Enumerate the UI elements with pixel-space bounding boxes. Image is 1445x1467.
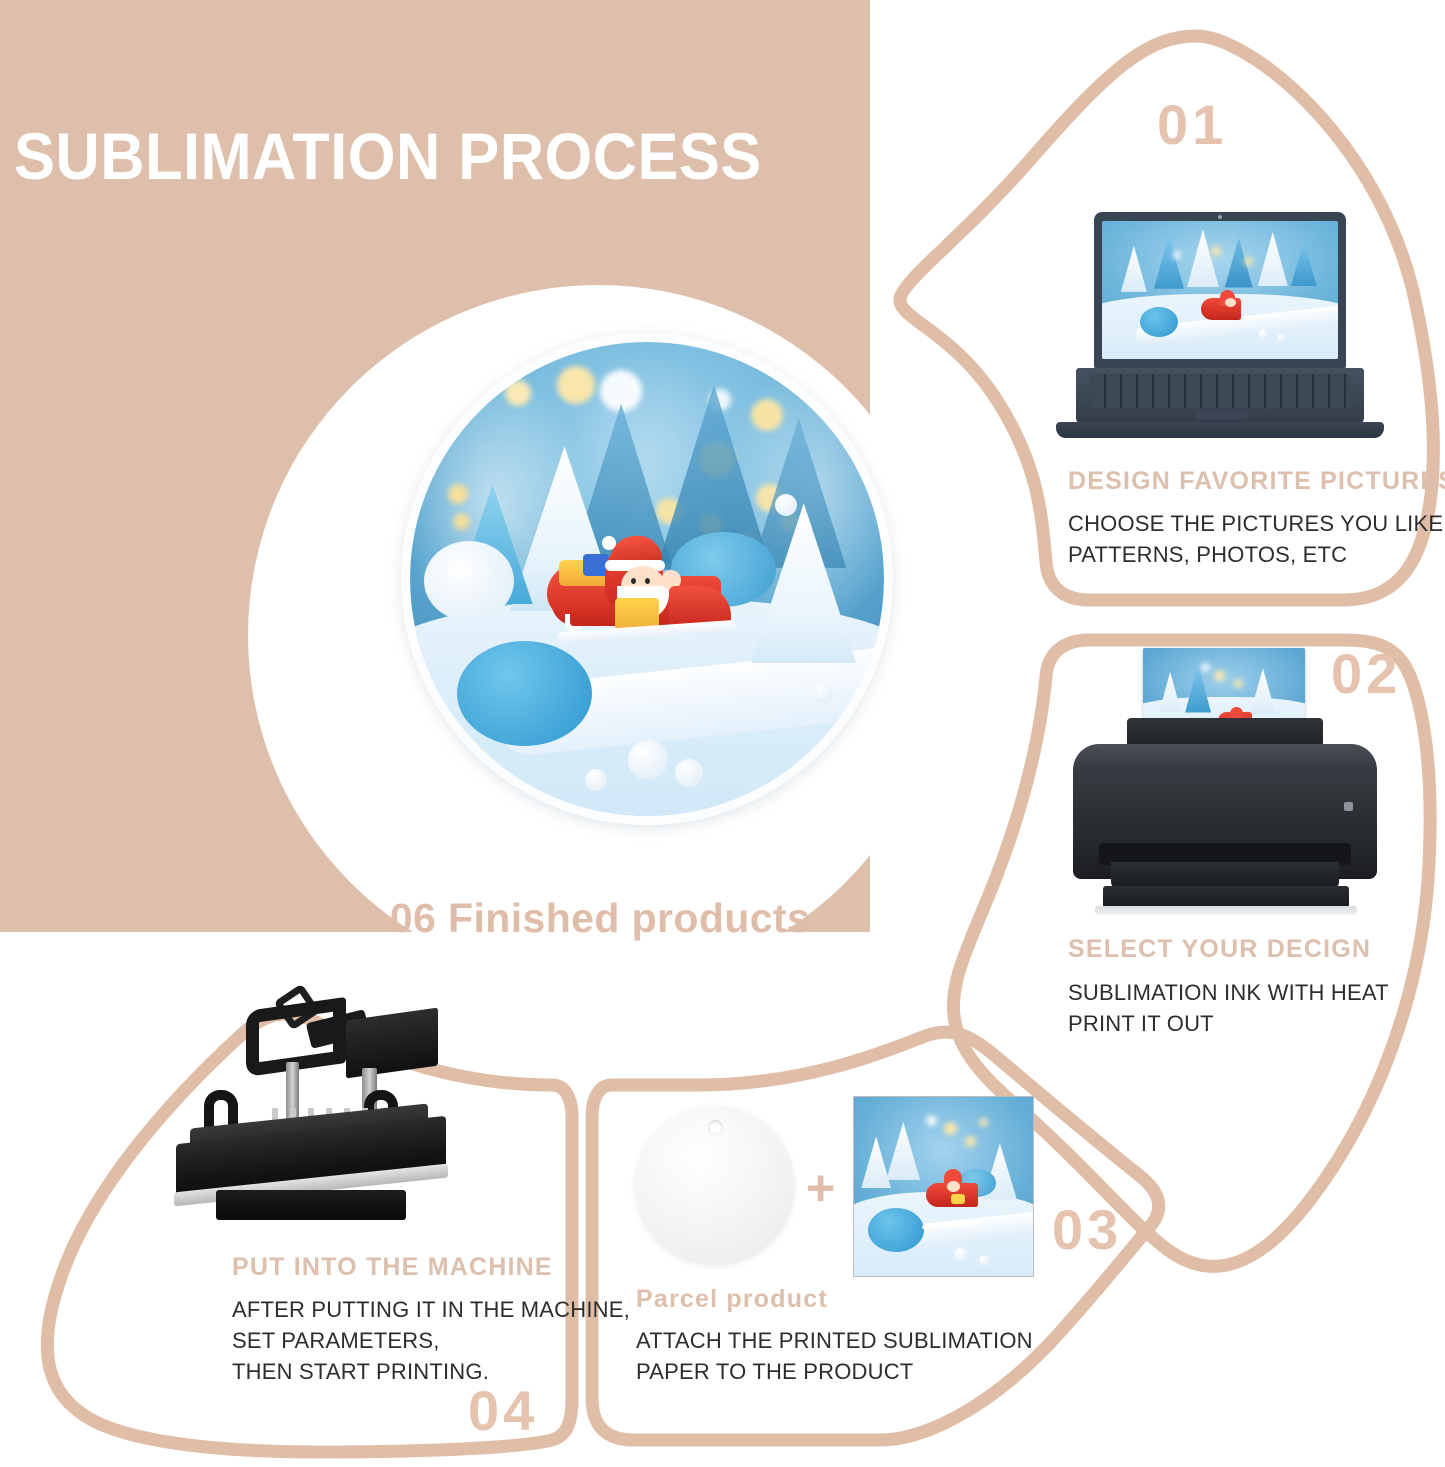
laptop-trackpad — [1195, 411, 1247, 419]
santa-sleigh — [547, 536, 742, 656]
step-body-01: CHOOSE THE PICTURES YOU LIKE, PATTERNS, … — [1068, 508, 1445, 570]
step-number-04: 04 — [468, 1378, 538, 1443]
printer-output-tray — [1111, 862, 1339, 888]
tree-top-ball — [775, 494, 797, 516]
webcam-icon — [1218, 215, 1222, 219]
finished-product-ornament — [401, 333, 893, 825]
ornament-hanging-hole — [708, 1120, 723, 1135]
step-heading-01: DESIGN FAVORITE PICTURES — [1068, 467, 1445, 496]
step-body-04: AFTER PUTTING IT IN THE MACHINE, SET PAR… — [232, 1294, 630, 1388]
press-stand — [216, 1190, 406, 1220]
step-number-01: 01 — [1157, 92, 1227, 157]
printer-illustration — [1065, 648, 1385, 933]
step-body-02: SUBLIMATION INK WITH HEAT PRINT IT OUT — [1068, 977, 1389, 1039]
infographic-canvas: SUBLIMATION PROCESS — [0, 0, 1445, 1467]
step-body-03: ATTACH THE PRINTED SUBLIMATION PAPER TO … — [636, 1325, 1033, 1387]
snowball — [628, 740, 668, 780]
laptop-lid — [1094, 212, 1346, 369]
blank-ornament — [636, 1106, 794, 1264]
snowball — [585, 769, 607, 791]
step-number-03: 03 — [1052, 1197, 1122, 1262]
laptop-keyboard — [1090, 374, 1350, 408]
bokeh-light — [505, 380, 531, 406]
printer-base — [1103, 886, 1349, 908]
ornament-winter-scene — [410, 342, 884, 816]
plus-icon: + — [806, 1163, 835, 1213]
blue-bush-large — [457, 641, 592, 746]
center-label: 06 Finished products — [250, 895, 950, 942]
bokeh-light — [557, 366, 595, 404]
printed-sublimation-paper — [853, 1096, 1034, 1277]
press-heating-head — [346, 1008, 438, 1079]
snow-bush — [424, 541, 514, 621]
step-heading-04: PUT INTO THE MACHINE — [232, 1253, 553, 1282]
printer-shadow — [1095, 906, 1357, 915]
step-heading-02: SELECT YOUR DECIGN — [1068, 935, 1371, 964]
printer-power-led — [1344, 802, 1353, 811]
laptop-foot — [1056, 422, 1384, 438]
laptop-illustration — [1050, 212, 1390, 447]
step-heading-03: Parcel product — [636, 1285, 828, 1314]
heat-press-illustration — [168, 990, 458, 1230]
laptop-screen — [1102, 221, 1338, 359]
